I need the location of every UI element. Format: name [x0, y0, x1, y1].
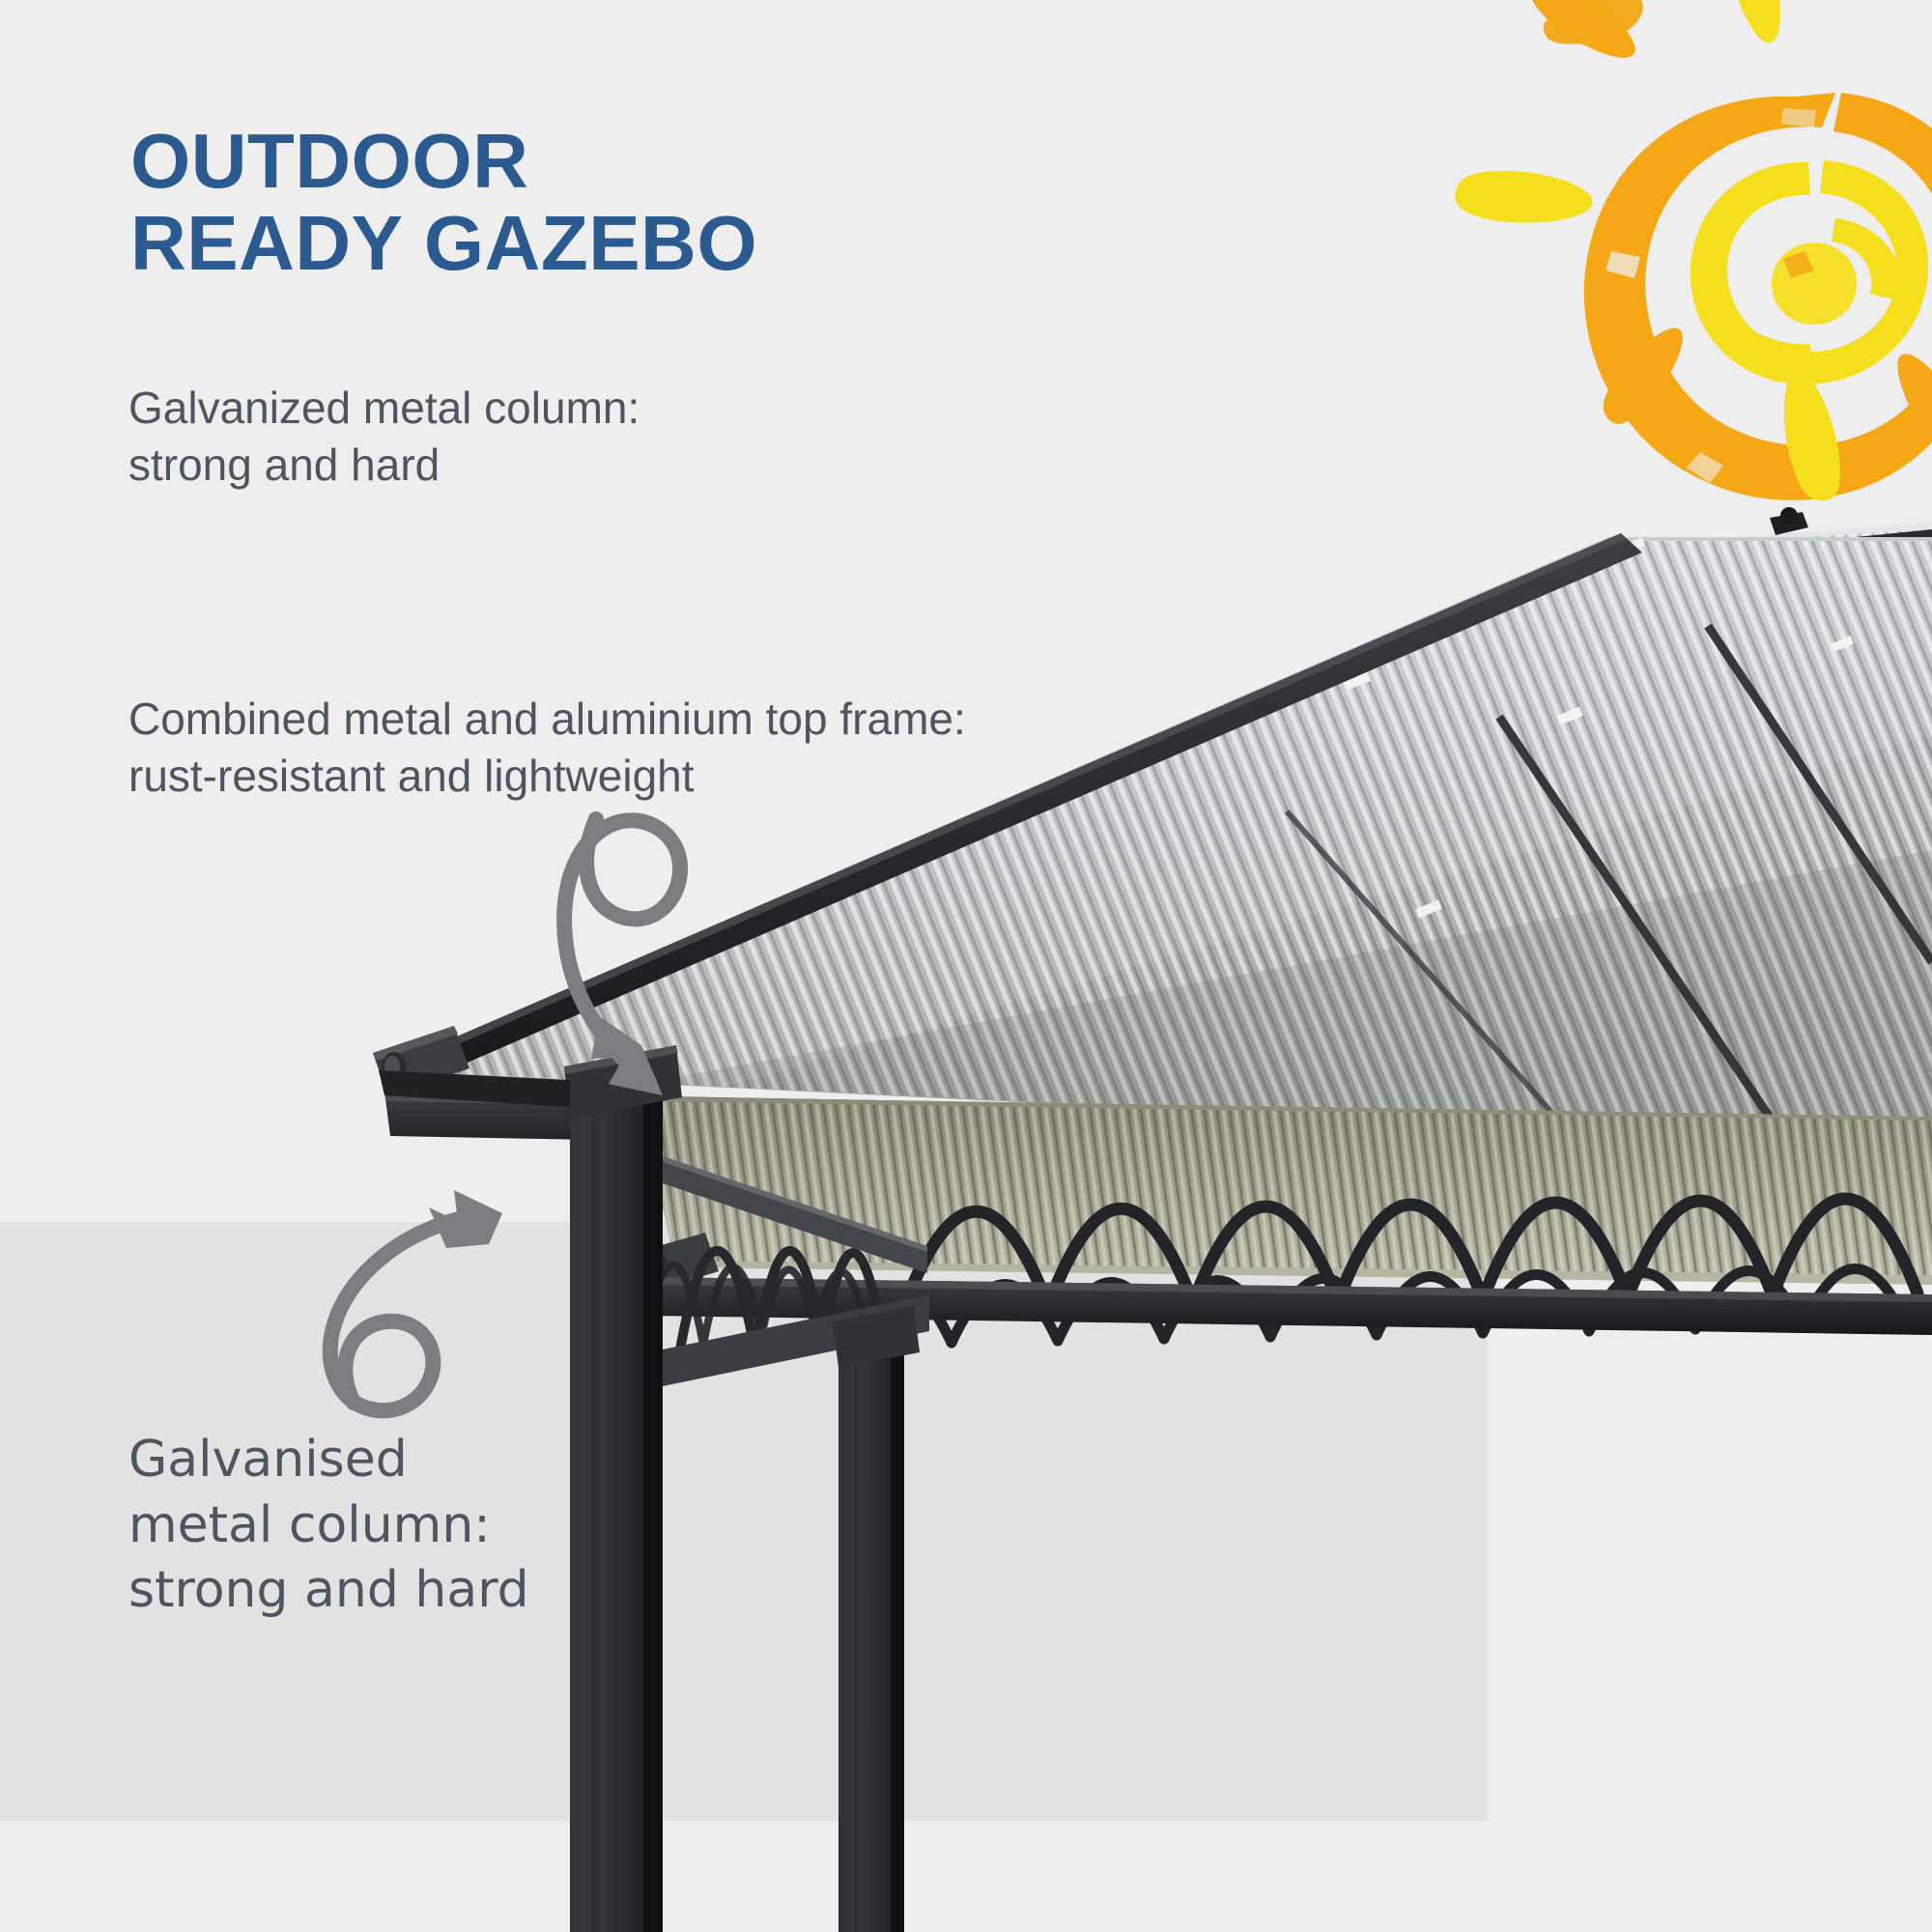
page-title: OUTDOOR READY GAZEBO — [130, 121, 757, 285]
curly-arrow-down-right — [564, 819, 680, 1082]
roof-panel-upper-vent — [1449, 502, 1932, 715]
ground-plane-right — [1488, 1222, 1932, 1821]
roof-edge-left — [379, 1070, 570, 1107]
corner-bracket — [373, 1026, 469, 1097]
curly-arrow-down-right-head — [591, 1016, 663, 1095]
callout-galvanized-column-top: Galvanized metal column: strong and hard — [128, 380, 639, 494]
product-feature-poster: OUTDOOR READY GAZEBO Galvanized metal co… — [0, 0, 1932, 1932]
callout-top-frame: Combined metal and aluminium top frame: … — [128, 691, 966, 805]
callout-galvanised-column-bottom: Galvanised metal column: strong and hard — [128, 1428, 529, 1624]
roof-panel-front — [338, 502, 1932, 1198]
roof-ridge-beam — [379, 533, 1932, 1165]
column-top-connector — [564, 1045, 682, 1119]
